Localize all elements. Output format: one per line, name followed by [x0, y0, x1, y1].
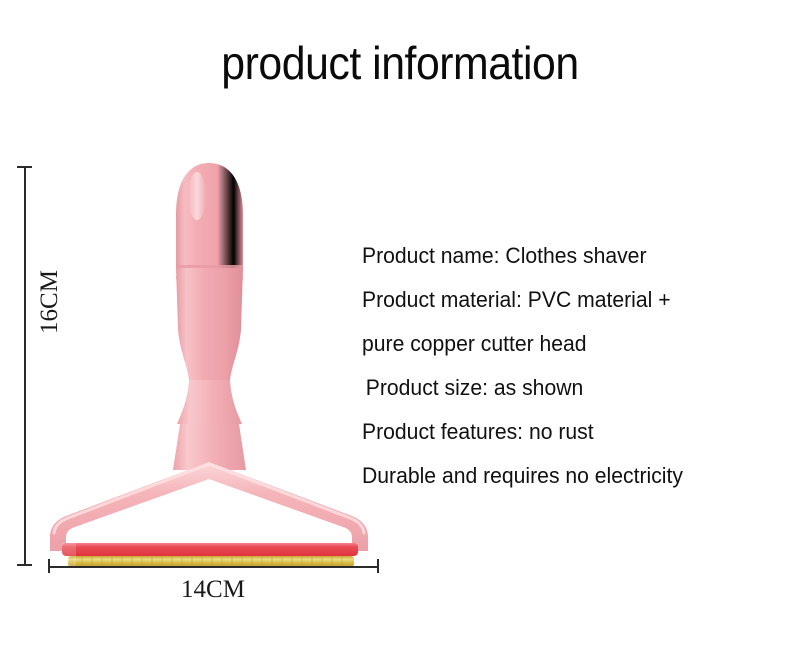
spec-line: pure copper cutter head: [362, 322, 757, 366]
height-dimension-cap-bottom: [17, 564, 32, 566]
specification-list: Product name: Clothes shaver Product mat…: [362, 234, 782, 498]
spec-line: Product size: as shown: [362, 366, 757, 410]
shaver-blade: [62, 543, 358, 567]
height-dimension-label: 16CM: [36, 270, 64, 334]
spec-line: Product material: PVC material +: [362, 278, 757, 322]
shaver-handle: [173, 163, 246, 470]
width-dimension-cap-left: [48, 559, 50, 573]
spec-line: Product name: Clothes shaver: [362, 234, 757, 278]
height-dimension-line: [24, 166, 26, 566]
spec-line: Product features: no rust: [362, 410, 757, 454]
shaver-frame: [50, 462, 368, 551]
spec-line: Durable and requires no electricity: [362, 454, 757, 498]
product-information-page: product information: [0, 0, 800, 650]
height-dimension-cap-top: [17, 166, 32, 168]
width-dimension-label: 14CM: [48, 576, 378, 604]
width-dimension-line: [48, 566, 378, 568]
width-dimension-cap-right: [377, 559, 379, 573]
